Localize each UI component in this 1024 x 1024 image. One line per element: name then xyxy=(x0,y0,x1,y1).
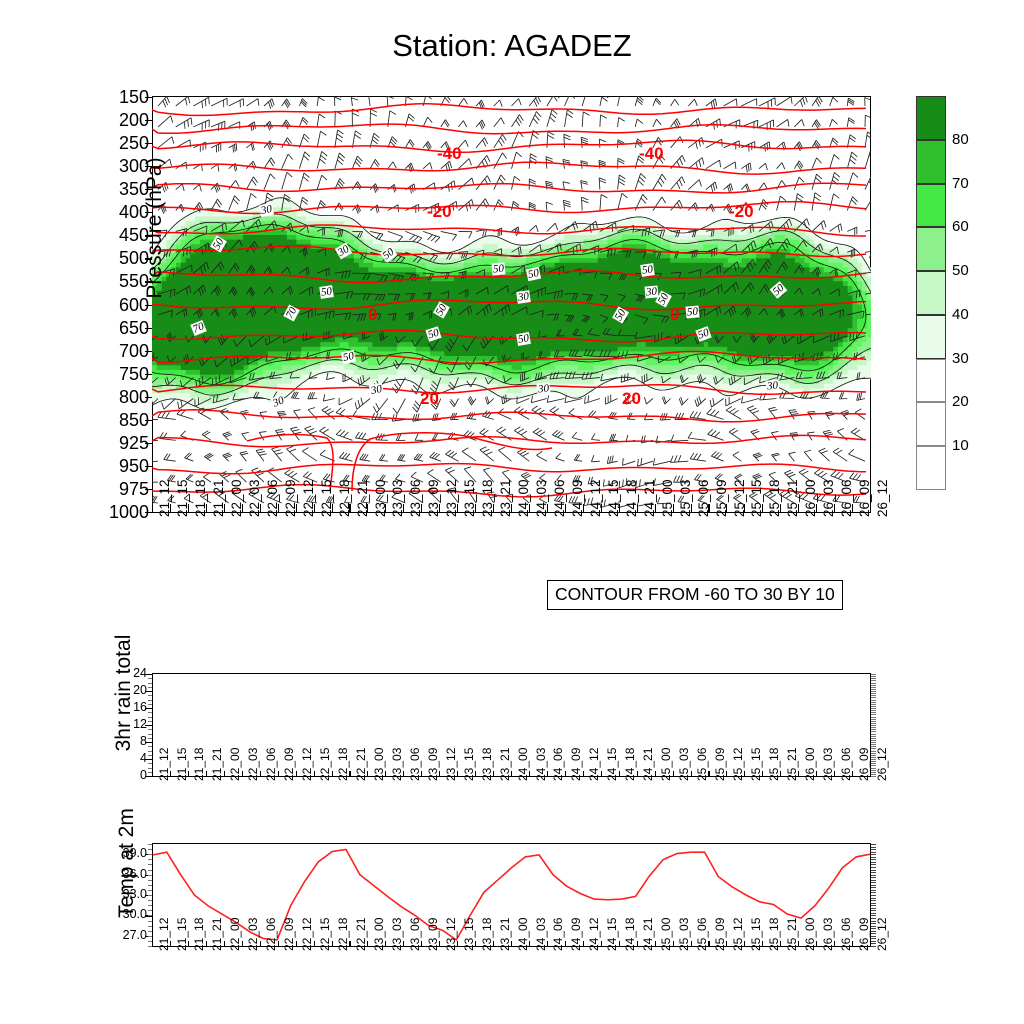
x-tick-label: 24_09 xyxy=(569,748,583,781)
wind-barb xyxy=(547,395,564,402)
rain-minor-tick xyxy=(148,751,152,752)
x-tick-label: 26_09 xyxy=(857,918,871,951)
wind-barb xyxy=(830,194,840,211)
x-tick-mark xyxy=(565,771,566,777)
wind-barb xyxy=(708,429,724,440)
pressure-tick-mark xyxy=(145,328,152,329)
x-tick-mark xyxy=(152,504,153,513)
temperature-minor-tick xyxy=(148,885,152,886)
temperature-tick-label: 39.0 xyxy=(91,847,147,860)
pressure-tick-label: 400 xyxy=(89,203,149,221)
wind-barb xyxy=(494,153,507,169)
wind-barb xyxy=(777,119,789,127)
x-tick-mark xyxy=(744,941,745,947)
rain-right-minor-tick xyxy=(871,717,876,718)
wind-barb xyxy=(441,120,450,128)
x-tick-mark xyxy=(852,941,853,947)
cross-section-panel: Pressure (hPa) 1502002503003504004505005… xyxy=(152,96,871,513)
rain-right-minor-tick xyxy=(871,674,876,675)
x-tick-mark xyxy=(852,771,853,777)
wind-barb xyxy=(353,411,371,420)
wind-barb xyxy=(599,160,606,168)
x-tick-mark xyxy=(421,941,422,947)
wind-barb xyxy=(360,454,370,462)
wind-barb xyxy=(671,177,685,190)
x-tick-label: 22_06 xyxy=(264,748,278,781)
rain-minor-tick xyxy=(148,687,152,688)
wind-barb xyxy=(335,153,345,169)
wind-barb xyxy=(600,115,607,127)
wind-barb xyxy=(308,392,317,399)
humidity-contour-label: 50 xyxy=(640,263,655,277)
x-tick-mark xyxy=(242,504,243,513)
isotherm-label: 20 xyxy=(622,389,641,409)
contour-caption: CONTOUR FROM -60 TO 30 BY 10 xyxy=(547,580,843,610)
x-tick-label: 25_18 xyxy=(767,918,781,951)
wind-barb xyxy=(476,199,489,211)
x-tick-mark xyxy=(457,771,458,777)
colorbar-band xyxy=(916,140,946,184)
temperature-tick-label: 30.0 xyxy=(91,908,147,921)
wind-barb xyxy=(335,130,344,148)
wind-barb xyxy=(812,158,821,169)
humidity-contour-label: 30 xyxy=(765,379,779,392)
x-tick-mark xyxy=(457,941,458,947)
humidity-contour-label: 30 xyxy=(536,382,550,395)
x-tick-label: 22_21 xyxy=(354,918,368,951)
wind-barb xyxy=(414,454,423,462)
x-tick-label: 26_00 xyxy=(803,918,817,951)
wind-barb xyxy=(638,458,653,466)
temperature-tick-label: 27.0 xyxy=(91,929,147,942)
wind-barb xyxy=(777,97,793,106)
wind-barb xyxy=(582,96,593,106)
wind-barb xyxy=(581,137,588,148)
temperature-right-minor-tick xyxy=(871,854,876,855)
x-tick-mark xyxy=(726,941,727,947)
rain-right-minor-tick xyxy=(871,687,876,688)
isotherm-label: -40 xyxy=(639,144,664,164)
pressure-tick-mark xyxy=(145,97,152,98)
x-tick-label: 22_00 xyxy=(228,748,242,781)
rain-minor-tick xyxy=(148,738,152,739)
x-tick-mark xyxy=(439,941,440,947)
rain-right-minor-tick xyxy=(871,678,876,679)
wind-barb xyxy=(759,142,770,152)
wind-barb xyxy=(847,227,857,235)
x-tick-label: 23_06 xyxy=(408,918,422,951)
x-tick-label: 22_12 xyxy=(300,748,314,781)
wind-barb xyxy=(512,152,522,169)
wind-barb xyxy=(476,120,485,129)
wind-barb xyxy=(794,142,802,151)
rain-minor-tick xyxy=(148,763,152,764)
wind-barb xyxy=(259,432,266,441)
x-tick-mark xyxy=(314,504,315,513)
temperature-right-minor-tick xyxy=(871,857,876,858)
x-tick-label: 25_21 xyxy=(785,918,799,951)
pressure-tick-label: 950 xyxy=(89,457,149,475)
wind-barb xyxy=(264,158,275,169)
x-tick-mark xyxy=(242,771,243,777)
wind-barb xyxy=(379,454,388,461)
pressure-tick-mark xyxy=(145,351,152,352)
x-tick-label: 23_06 xyxy=(408,748,422,781)
x-tick-label: 26_00 xyxy=(803,748,817,781)
wind-barb xyxy=(812,221,826,232)
x-tick-label: 24_12 xyxy=(587,918,601,951)
rain-right-minor-tick xyxy=(871,680,876,681)
rain-right-minor-tick xyxy=(871,685,876,686)
pressure-tick-label: 500 xyxy=(89,249,149,267)
pressure-tick-label: 300 xyxy=(89,157,149,175)
cross-section-plot xyxy=(152,96,871,513)
wind-barb xyxy=(211,143,221,152)
colorbar-label: 50 xyxy=(952,263,969,278)
temperature-right-minor-tick xyxy=(871,864,876,865)
wind-barb xyxy=(724,184,733,194)
wind-barb xyxy=(423,117,432,127)
wind-barb xyxy=(335,111,342,127)
humidity-contour-label: 30 xyxy=(516,290,531,304)
humidity-contour-label: 50 xyxy=(492,262,506,275)
wind-barb xyxy=(564,134,571,148)
x-tick-mark xyxy=(708,771,709,777)
wind-barb xyxy=(812,193,821,211)
pressure-tick-mark xyxy=(145,397,152,398)
wind-barb xyxy=(777,180,786,189)
wind-barb xyxy=(690,411,706,419)
wind-barb xyxy=(706,99,717,109)
wind-barb xyxy=(552,430,564,440)
colorbar-band xyxy=(916,359,946,403)
wind-barb xyxy=(282,138,292,148)
x-tick-label: 22_00 xyxy=(228,918,242,951)
colorbar-band xyxy=(916,446,946,490)
wind-barb xyxy=(585,395,600,403)
x-tick-mark xyxy=(367,941,368,947)
isotherm-label: -20 xyxy=(427,202,452,222)
wind-barb xyxy=(618,118,625,127)
x-tick-label: 21_12 xyxy=(157,748,171,781)
x-tick-mark xyxy=(547,771,548,777)
pressure-tick-label: 925 xyxy=(89,434,149,452)
x-tick-mark xyxy=(260,504,261,513)
x-tick-label: 25_00 xyxy=(659,748,673,781)
wind-barb xyxy=(529,96,540,107)
x-tick-label: 23_12 xyxy=(444,748,458,781)
x-tick-label: 22_06 xyxy=(264,918,278,951)
isotherm-label: 0 xyxy=(670,305,679,325)
rain-tick-label: 24 xyxy=(103,667,147,680)
wind-barb xyxy=(476,229,487,236)
wind-barb xyxy=(282,172,293,189)
x-tick-mark xyxy=(349,504,350,513)
x-tick-label: 23_09 xyxy=(426,748,440,781)
x-tick-mark xyxy=(708,941,709,947)
x-tick-label: 25_03 xyxy=(677,918,691,951)
wind-barb xyxy=(299,99,307,107)
x-tick-mark xyxy=(547,941,548,947)
wind-barb xyxy=(211,98,227,107)
x-tick-mark xyxy=(296,504,297,513)
wind-barb xyxy=(599,178,606,190)
wind-barb xyxy=(351,96,359,106)
wind-barb xyxy=(671,200,683,210)
x-tick-mark xyxy=(834,504,835,513)
wind-barb xyxy=(482,411,493,420)
wind-barb xyxy=(415,434,423,441)
wind-barb xyxy=(494,175,506,190)
pressure-tick-mark xyxy=(145,258,152,259)
wind-barb xyxy=(600,96,609,106)
x-tick-mark xyxy=(332,504,333,513)
wind-barb xyxy=(759,98,775,109)
x-tick-label: 22_03 xyxy=(246,918,260,951)
wind-barb xyxy=(246,99,259,106)
colorbar-band xyxy=(916,227,946,271)
temperature-minor-tick xyxy=(148,926,152,927)
x-tick-mark xyxy=(493,941,494,947)
wind-barb xyxy=(794,96,807,107)
x-tick-label: 24_00 xyxy=(516,918,530,951)
pressure-tick-mark xyxy=(145,120,152,121)
rain-right-minor-tick xyxy=(871,721,876,722)
temperature-right-minor-tick xyxy=(871,903,876,904)
wind-barb xyxy=(430,452,441,461)
temperature-right-minor-tick xyxy=(871,847,876,848)
wind-barb xyxy=(741,163,751,173)
rain-right-minor-tick xyxy=(871,725,876,726)
wind-barb xyxy=(830,97,838,106)
wind-barb xyxy=(246,177,257,190)
x-tick-mark xyxy=(870,941,871,947)
wind-barb xyxy=(635,96,643,106)
wind-barb xyxy=(830,224,842,233)
x-tick-mark xyxy=(260,941,261,947)
pressure-tick-label: 350 xyxy=(89,180,149,198)
temperature-right-minor-tick xyxy=(871,877,876,878)
pressure-tick-label: 1000 xyxy=(89,503,149,521)
x-tick-label: 23_18 xyxy=(480,918,494,951)
colorbar-band xyxy=(916,96,946,140)
wind-barb xyxy=(823,430,833,440)
page-title: Station: AGADEZ xyxy=(0,28,1024,64)
x-tick-label: 22_03 xyxy=(246,748,260,781)
x-tick-mark xyxy=(511,941,512,947)
x-tick-mark xyxy=(475,771,476,777)
x-tick-mark xyxy=(601,941,602,947)
x-tick-label: 22_18 xyxy=(336,918,350,951)
temperature-minor-tick xyxy=(148,854,152,855)
wind-barb xyxy=(688,180,701,190)
x-tick-mark xyxy=(493,504,494,513)
wind-barb xyxy=(387,96,394,106)
wind-barb xyxy=(476,176,490,190)
wind-barb xyxy=(707,409,724,420)
humidity-contour-label: 50 xyxy=(516,332,531,346)
wind-barb xyxy=(494,134,507,148)
x-tick-mark xyxy=(188,771,189,777)
wind-barb xyxy=(176,118,192,129)
wind-barb xyxy=(370,159,379,168)
rain-tick-label: 16 xyxy=(103,701,147,714)
pressure-tick-mark xyxy=(145,235,152,236)
wind-barb xyxy=(204,453,213,461)
x-tick-mark xyxy=(349,771,350,777)
wind-barb xyxy=(393,399,406,414)
wind-barb xyxy=(480,447,494,462)
rain-right-minor-tick xyxy=(871,740,876,741)
x-tick-mark xyxy=(457,504,458,513)
temperature-minor-tick xyxy=(148,849,152,850)
temperature-minor-tick xyxy=(148,900,152,901)
x-tick-mark xyxy=(798,504,799,513)
temperature-right-minor-tick xyxy=(871,915,876,916)
wind-barb xyxy=(857,393,865,401)
wind-barb xyxy=(742,396,760,403)
wind-barb xyxy=(277,411,286,419)
wind-barb xyxy=(423,163,432,170)
x-tick-mark xyxy=(367,771,368,777)
wind-barb xyxy=(533,428,547,440)
x-tick-mark xyxy=(170,771,171,777)
x-tick-mark xyxy=(475,941,476,947)
rain-right-minor-tick xyxy=(871,742,876,743)
wind-barb xyxy=(287,446,300,461)
wind-barb xyxy=(635,119,643,127)
wind-barb xyxy=(423,231,440,242)
x-tick-mark xyxy=(637,771,638,777)
x-tick-mark xyxy=(816,771,817,777)
x-tick-mark xyxy=(708,504,709,513)
x-tick-mark xyxy=(619,771,620,777)
x-tick-mark xyxy=(565,504,566,513)
rain-right-minor-tick xyxy=(871,736,876,737)
wind-barb xyxy=(600,195,608,211)
wind-barb xyxy=(726,397,742,406)
x-tick-mark xyxy=(188,504,189,513)
wind-barb xyxy=(839,392,847,399)
x-tick-mark xyxy=(655,771,656,777)
wind-barb xyxy=(653,174,666,190)
wind-barb xyxy=(724,120,740,129)
x-tick-mark xyxy=(278,941,279,947)
wind-barb xyxy=(459,231,473,238)
wind-barb xyxy=(759,163,767,170)
colorbar-label: 40 xyxy=(952,307,969,322)
rain-minor-tick xyxy=(148,695,152,696)
wind-barb xyxy=(459,178,474,190)
wind-barb xyxy=(847,118,854,127)
wind-barb xyxy=(546,202,553,210)
wind-barb xyxy=(819,448,830,461)
rain-right-minor-tick xyxy=(871,676,876,677)
wind-barb xyxy=(565,110,574,127)
x-tick-mark xyxy=(314,771,315,777)
rain-right-minor-tick xyxy=(871,719,876,720)
wind-barb xyxy=(339,452,352,461)
x-tick-mark xyxy=(475,504,476,513)
pressure-tick-mark xyxy=(145,443,152,444)
x-tick-mark xyxy=(296,771,297,777)
wind-barb xyxy=(741,99,757,106)
x-tick-label: 24_18 xyxy=(623,748,637,781)
wind-barb xyxy=(220,409,229,420)
x-tick-label: 25_00 xyxy=(659,918,673,951)
wind-barb xyxy=(772,453,780,461)
colorbar-band xyxy=(916,184,946,228)
x-tick-label: 24_21 xyxy=(641,918,655,951)
isotherm-line xyxy=(152,140,866,152)
x-tick-mark xyxy=(655,504,656,513)
wind-barb xyxy=(724,162,736,169)
isotherm-label: 20 xyxy=(420,389,439,409)
wind-barb xyxy=(563,182,570,190)
isotherm-line xyxy=(152,464,866,474)
temperature-minor-tick xyxy=(148,880,152,881)
wind-barb xyxy=(459,98,468,106)
wind-barb xyxy=(370,205,379,213)
wind-barb xyxy=(494,200,504,211)
x-tick-label: 25_12 xyxy=(731,918,745,951)
isotherm-label: -40 xyxy=(437,144,462,164)
wind-barb xyxy=(706,182,717,192)
wind-barb xyxy=(302,448,317,462)
x-tick-mark xyxy=(403,504,404,513)
wind-barb xyxy=(653,197,666,211)
wind-barb xyxy=(794,119,804,127)
x-tick-label: 25_18 xyxy=(767,748,781,781)
wind-barb xyxy=(336,408,352,420)
wind-barb xyxy=(246,161,256,169)
x-tick-mark xyxy=(691,771,692,777)
x-tick-mark xyxy=(655,941,656,947)
x-tick-mark xyxy=(798,771,799,777)
wind-barb xyxy=(789,452,796,461)
pressure-tick-mark xyxy=(145,212,152,213)
wind-barb xyxy=(830,119,838,127)
x-tick-mark xyxy=(673,941,674,947)
temperature-minor-tick xyxy=(148,859,152,860)
wind-barb xyxy=(512,115,524,127)
x-tick-label: 24_00 xyxy=(516,748,530,781)
x-tick-label: 24_03 xyxy=(534,918,548,951)
humidity-contour-label: 50 xyxy=(686,305,700,318)
x-tick-label: 24_03 xyxy=(534,748,548,781)
wind-barb xyxy=(322,407,335,420)
rain-minor-tick xyxy=(148,755,152,756)
x-tick-mark xyxy=(224,941,225,947)
wind-barb xyxy=(459,121,467,127)
pressure-tick-mark xyxy=(145,305,152,306)
rain-minor-tick xyxy=(148,712,152,713)
x-tick-label: 25_09 xyxy=(713,748,727,781)
wind-barb xyxy=(476,138,488,148)
x-tick-label: 26_06 xyxy=(839,918,853,951)
temperature-right-minor-tick xyxy=(871,862,876,863)
wind-barb xyxy=(246,143,254,151)
wind-barb xyxy=(695,396,706,406)
rain-right-minor-tick xyxy=(871,706,876,707)
wind-barb xyxy=(529,154,536,169)
pressure-tick-mark xyxy=(145,466,152,467)
wind-barb xyxy=(193,120,209,130)
rain-minor-tick xyxy=(148,704,152,705)
wind-barb xyxy=(653,119,661,127)
wind-barb xyxy=(653,458,670,465)
wind-barb xyxy=(396,434,405,441)
